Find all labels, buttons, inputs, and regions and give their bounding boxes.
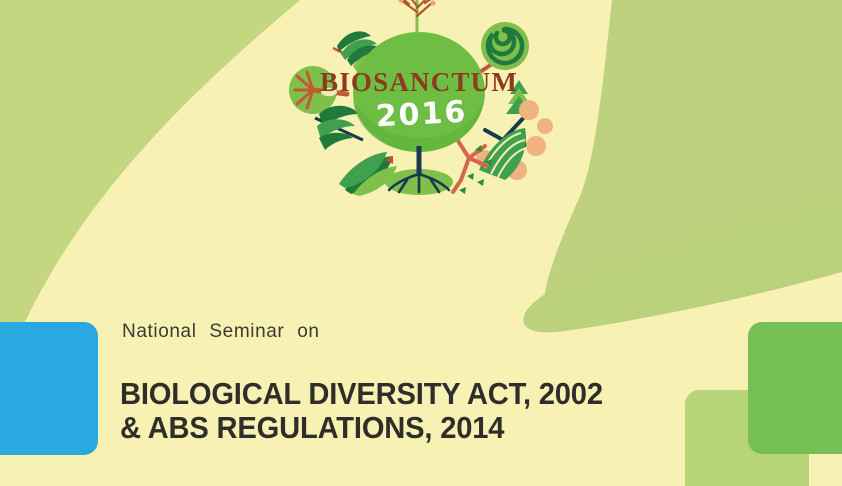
blue-accent-square xyxy=(0,322,98,455)
logo-wordmark: BIOSANCTUM xyxy=(320,67,518,97)
bare-branch-tree-icon xyxy=(398,0,435,32)
coral-tree-icon xyxy=(453,136,492,194)
green-accent-square-dark xyxy=(748,322,842,454)
seminar-poster: BIOSANCTUM 2016 National Seminar on BIOL… xyxy=(0,0,842,486)
seminar-title-line-1: BIOLOGICAL DIVERSITY ACT, 2002 xyxy=(120,377,703,411)
rooted-tree-icon xyxy=(385,146,453,195)
seminar-kicker: National Seminar on xyxy=(122,322,740,343)
logo-year: 2016 xyxy=(375,95,468,135)
seminar-title-line-2: & ABS REGULATIONS, 2014 xyxy=(120,411,703,445)
headline-block: National Seminar on BIOLOGICAL DIVERSITY… xyxy=(120,322,740,445)
biosanctum-logo: BIOSANCTUM 2016 xyxy=(289,0,553,200)
